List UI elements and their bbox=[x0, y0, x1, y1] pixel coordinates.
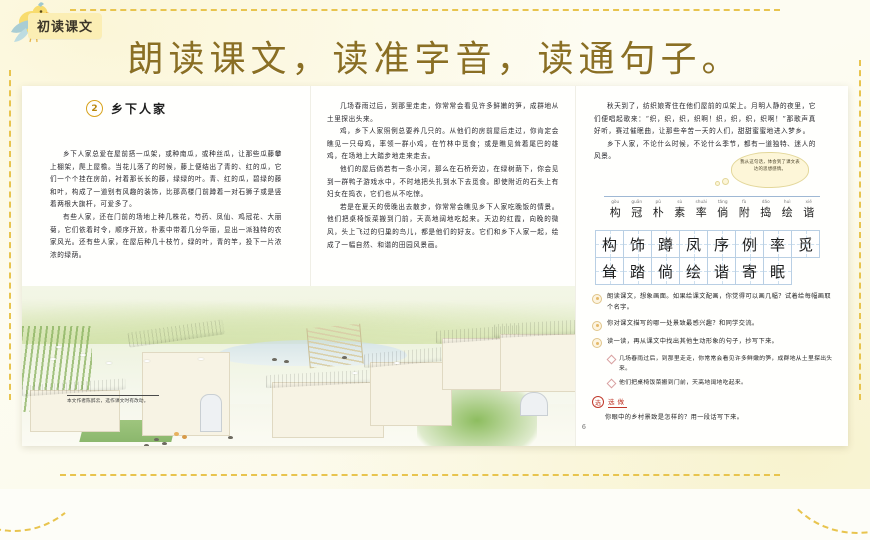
exercise-text: 读一读，再从课文中找出其他生动形象的句子，抄写下来。 bbox=[607, 337, 778, 349]
new-word: gòu构 bbox=[606, 200, 625, 219]
illustration-house bbox=[500, 334, 575, 392]
new-word: huì绘 bbox=[778, 200, 797, 219]
exercise-subitem: 几场春雨过后，到那里走走，你常常会看见许多鲜嫩的笋，成群地从土里探出头来。 bbox=[608, 354, 836, 374]
grid-char: 耸 bbox=[602, 261, 617, 282]
frame-edge-top bbox=[70, 9, 780, 11]
hanzi: 附 bbox=[739, 206, 750, 219]
hanzi: 冠 bbox=[631, 206, 642, 219]
left-page-body: 乡下人家总爱在屋前搭一瓜架，或种南瓜，或种丝瓜，让那些瓜藤攀上棚架，爬上屋檐。当… bbox=[50, 148, 282, 261]
bullet-icon bbox=[592, 338, 602, 348]
paragraph: 秋天到了，纺织娘寄住在他们屋前的瓜架上。月明人静的夜里，它们便唱起歌来：“织，织… bbox=[594, 100, 816, 138]
grid-char: 率 bbox=[770, 234, 785, 255]
hanzi: 率 bbox=[696, 206, 707, 219]
illustration-duck bbox=[162, 442, 167, 445]
exercise-subitem: 他们把桌椅饭菜搬到门前，天高地阔地吃起来。 bbox=[608, 378, 836, 388]
optional-label: 选做 bbox=[608, 396, 627, 408]
page-number-right: 6 bbox=[582, 424, 586, 431]
grid-char: 倘 bbox=[658, 261, 673, 282]
grid-char: 序 bbox=[714, 234, 729, 255]
new-words-row: gòu构 guān冠 pǔ朴 sù素 shuài率 tǎng倘 fù附 dǎo捣… bbox=[592, 200, 832, 219]
illustration-door bbox=[200, 394, 222, 432]
new-word: sù素 bbox=[670, 200, 689, 219]
hanzi: 倘 bbox=[717, 206, 728, 219]
paragraph: 若是在夏天的傍晚出去散步，你常常会瞧见乡下人家吃晚饭的情景。他们把桌椅饭菜搬到门… bbox=[327, 201, 559, 251]
hanzi: 捣 bbox=[760, 206, 771, 219]
flying-bird-icon bbox=[80, 354, 86, 356]
diamond-bullet-icon bbox=[607, 379, 617, 389]
grid-cell: 觅 bbox=[791, 230, 820, 258]
hanzi: 构 bbox=[610, 206, 621, 219]
exercise-item: 朗读课文，想象画面。如果给课文配画，你觉得可以画几幅？试着给每幅画取个名字。 bbox=[592, 292, 836, 313]
illustration-duck bbox=[342, 356, 347, 359]
new-word: pǔ朴 bbox=[649, 200, 668, 219]
hanzi: 朴 bbox=[653, 206, 664, 219]
illustration-bridge bbox=[306, 324, 363, 369]
grid-char: 寄 bbox=[742, 261, 757, 282]
illustration-duck bbox=[144, 444, 149, 446]
lesson-header: 2 乡下人家 bbox=[86, 100, 167, 117]
new-word: guān冠 bbox=[627, 200, 646, 219]
page-title: 朗读课文，读准字音，读通句子。 bbox=[0, 30, 870, 82]
grid-cell: 构 bbox=[595, 230, 624, 258]
flying-bird-icon bbox=[198, 358, 204, 360]
flying-bird-icon bbox=[352, 372, 358, 374]
grid-char: 例 bbox=[742, 234, 757, 255]
slide-root: 初读课文 朗读课文，读准字音，读通句子。 2 乡下人家 乡下人家总爱在屋前搭一瓜… bbox=[0, 0, 870, 489]
new-word: xié谐 bbox=[799, 200, 818, 219]
illustration-duck bbox=[154, 438, 159, 441]
new-words-section: gòu构 guān冠 pǔ朴 sù素 shuài率 tǎng倘 fù附 dǎo捣… bbox=[592, 196, 832, 219]
illustration-house bbox=[370, 362, 452, 426]
grid-char: 构 bbox=[602, 234, 617, 255]
flying-bird-icon bbox=[394, 362, 400, 364]
writing-grid-row: 耸 踏 倘 绘 谐 寄 眠 bbox=[596, 258, 820, 285]
paragraph: 鸡，乡下人家照例总要养几只的。从他们的房前屋后走过，你肯定会瞧见一只母鸡，率领一… bbox=[327, 125, 559, 163]
grid-char: 踏 bbox=[630, 261, 645, 282]
flying-bird-icon bbox=[144, 360, 150, 362]
exercise-item: 读一读，再从课文中找出其他生动形象的句子，抄写下来。 bbox=[592, 337, 836, 349]
flying-bird-icon bbox=[56, 346, 62, 348]
hanzi: 素 bbox=[674, 206, 685, 219]
new-word: fù附 bbox=[735, 200, 754, 219]
lesson-number-badge: 2 bbox=[86, 100, 103, 117]
grid-char: 蹲 bbox=[658, 234, 673, 255]
textbook-spread: 2 乡下人家 乡下人家总爱在屋前搭一瓜架，或种南瓜，或种丝瓜，让那些瓜藤攀上棚架… bbox=[22, 86, 848, 446]
grid-cell: 眠 bbox=[763, 257, 792, 285]
optional-badge-icon: 选 bbox=[592, 396, 604, 408]
illustration-duck bbox=[272, 358, 277, 361]
bubble-tail-dot-small bbox=[715, 181, 720, 186]
grid-cell: 寄 bbox=[735, 257, 764, 285]
grid-cell: 谐 bbox=[707, 257, 736, 285]
paragraph: 他们的屋后倘若有一条小河，那么在石桥旁边，在绿树荫下，你会见到一群鸭子游戏水中，… bbox=[327, 163, 559, 201]
hanzi: 谐 bbox=[803, 206, 814, 219]
paragraph: 有些人家，还在门前的场地上种几株花，芍药、凤仙、鸡冠花、大丽菊，它们依着时令，顺… bbox=[50, 211, 282, 261]
illustration-hen bbox=[182, 435, 187, 439]
diamond-bullet-icon bbox=[607, 355, 617, 365]
bullet-icon bbox=[592, 294, 602, 304]
frame-edge-right bbox=[859, 60, 861, 400]
frame-edge-left bbox=[9, 70, 11, 400]
grid-cell: 绘 bbox=[679, 257, 708, 285]
grid-char: 饰 bbox=[630, 234, 645, 255]
new-word: dǎo捣 bbox=[756, 200, 775, 219]
grid-char: 觅 bbox=[798, 234, 813, 255]
grid-cell: 序 bbox=[707, 230, 736, 258]
hanzi: 绘 bbox=[782, 206, 793, 219]
illustration-duck bbox=[284, 360, 289, 363]
grid-cell: 凤 bbox=[679, 230, 708, 258]
village-illustration: 本文作者陈醉云，选作课文时有改动。 bbox=[22, 286, 575, 446]
frame-edge-bottom bbox=[60, 474, 780, 476]
paragraph: 几场春雨过后，到那里走走，你常常会看见许多鲜嫩的笋，成群地从土里探出头来。 bbox=[327, 100, 559, 125]
illustration-duck bbox=[228, 436, 233, 439]
illustration-house bbox=[272, 382, 384, 438]
optional-header: 选 选做 bbox=[592, 396, 836, 408]
new-word: shuài率 bbox=[692, 200, 711, 219]
divider bbox=[604, 196, 820, 197]
grid-cell: 率 bbox=[763, 230, 792, 258]
illustration-caption: 本文作者陈醉云，选作课文时有改动。 bbox=[67, 395, 159, 404]
grid-char: 眠 bbox=[770, 261, 785, 282]
annotation-bubble: 我从这句话，体会到了课文表达的思想感情。 bbox=[731, 152, 809, 188]
writing-grid: 构 饰 蹲 凤 序 例 率 觅 耸 踏 倘 绘 谐 寄 眠 bbox=[596, 231, 820, 285]
grid-cell: 例 bbox=[735, 230, 764, 258]
exercise-list: 朗读课文，想象画面。如果给课文配画，你觉得可以画几幅？试着给每幅画取个名字。 你… bbox=[592, 292, 836, 424]
grid-cell: 倘 bbox=[651, 257, 680, 285]
bullet-icon bbox=[592, 321, 602, 331]
paragraph: 乡下人家总爱在屋前搭一瓜架，或种南瓜，或种丝瓜，让那些瓜藤攀上棚架，爬上屋檐。当… bbox=[50, 148, 282, 211]
grid-char: 绘 bbox=[686, 261, 701, 282]
grid-char: 凤 bbox=[686, 234, 701, 255]
exercise-text: 你对课文描写的哪一处景致最感兴趣？和同学交流。 bbox=[607, 319, 759, 331]
grid-cell: 饰 bbox=[623, 230, 652, 258]
bubble-tail-dot-large bbox=[722, 178, 729, 185]
exercise-item: 你对课文描写的哪一处景致最感兴趣？和同学交流。 bbox=[592, 319, 836, 331]
grid-cell: 踏 bbox=[623, 257, 652, 285]
writing-grid-row: 构 饰 蹲 凤 序 例 率 觅 bbox=[596, 231, 820, 258]
exercise-subitem-text: 他们把桌椅饭菜搬到门前，天高地阔地吃起来。 bbox=[619, 378, 747, 388]
exercise-subitem-text: 几场春雨过后，到那里走走，你常常会看见许多鲜嫩的笋，成群地从土里探出头来。 bbox=[619, 354, 836, 374]
grid-char: 谐 bbox=[714, 261, 729, 282]
grid-cell: 蹲 bbox=[651, 230, 680, 258]
new-word: tǎng倘 bbox=[713, 200, 732, 219]
flying-bird-icon bbox=[50, 358, 56, 360]
grid-cell-empty bbox=[791, 257, 820, 285]
lesson-title: 乡下人家 bbox=[111, 100, 167, 117]
grid-cell: 耸 bbox=[595, 257, 624, 285]
middle-page-body: 几场春雨过后，到那里走走，你常常会看见许多鲜嫩的笋，成群地从土里探出头来。 鸡，… bbox=[327, 100, 559, 251]
optional-body: 你眼中的乡村景致是怎样的？用一段话写下来。 bbox=[592, 413, 836, 424]
flying-bird-icon bbox=[106, 362, 112, 364]
exercise-text: 朗读课文，想象画面。如果给课文配画，你觉得可以画几幅？试着给每幅画取个名字。 bbox=[607, 292, 836, 313]
textbook-page-right: 秋天到了，纺织娘寄住在他们屋前的瓜架上。月明人静的夜里，它们便唱起歌来：“织，织… bbox=[575, 86, 848, 446]
illustration-arch bbox=[520, 392, 548, 416]
illustration-hen bbox=[174, 432, 179, 436]
